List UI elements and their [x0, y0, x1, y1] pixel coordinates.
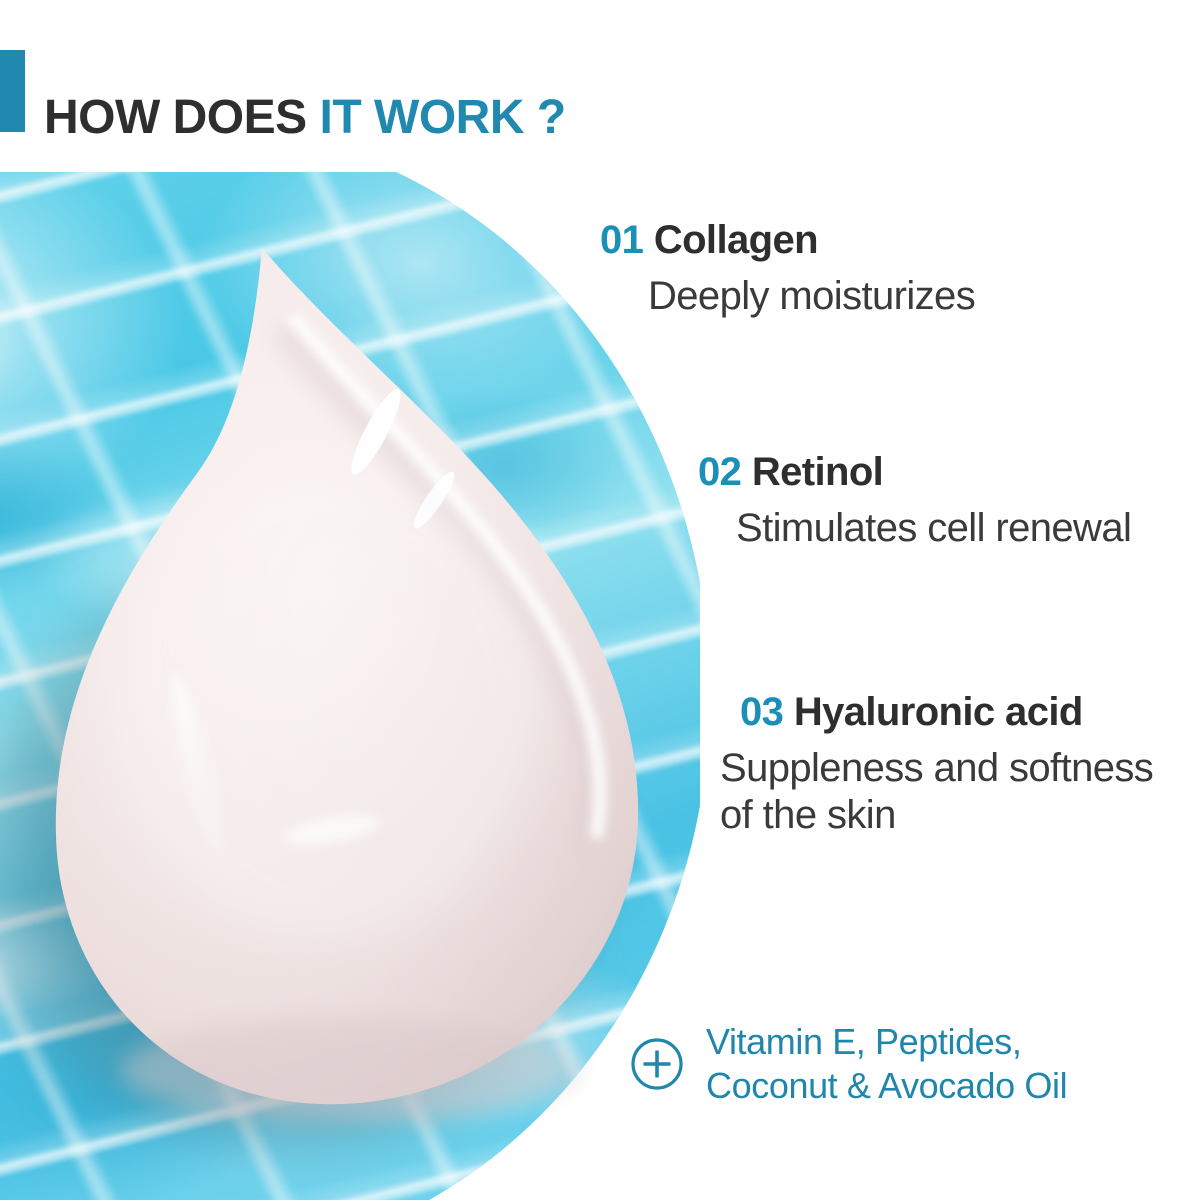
ingredient-item-collagen: 01 Collagen Deeply moisturizes [600, 218, 1140, 320]
additional-ingredients-text: Vitamin E, Peptides, Coconut & Avocado O… [706, 1020, 1067, 1108]
title-accent-bar [0, 50, 25, 132]
page-title-accent: IT WORK ? [320, 91, 566, 144]
ingredient-name: Collagen [654, 218, 818, 262]
ingredient-item-hyaluronic-acid: 03 Hyaluronic acid Suppleness and softne… [740, 690, 1180, 839]
page-header: HOW DOES IT WORK ? [0, 0, 1200, 172]
ingredient-number: 01 [600, 218, 643, 262]
ingredient-description: Stimulates cell renewal [736, 505, 1158, 552]
ingredient-heading: 01 Collagen [600, 218, 1140, 263]
ingredient-name: Retinol [752, 450, 883, 494]
plus-circle-icon [630, 1037, 684, 1091]
ingredient-number: 03 [740, 690, 783, 734]
ingredient-heading: 02 Retinol [698, 450, 1158, 495]
ingredient-heading: 03 Hyaluronic acid [740, 690, 1180, 735]
ingredient-description: Suppleness and softness of the skin [720, 745, 1190, 839]
cream-bottom-shade [120, 1018, 580, 1122]
ingredients-list: 01 Collagen Deeply moisturizes 02 Retino… [580, 200, 1200, 1200]
page-title: HOW DOES IT WORK ? [44, 90, 566, 145]
page-title-plain: HOW DOES [44, 91, 320, 144]
ingredient-name: Hyaluronic acid [794, 690, 1083, 734]
ingredient-number: 02 [698, 450, 741, 494]
cream-diffuse-sheen [120, 462, 540, 942]
cream-swirl-graphic [30, 232, 670, 1152]
ingredient-description: Deeply moisturizes [648, 273, 1140, 320]
additional-ingredients: Vitamin E, Peptides, Coconut & Avocado O… [630, 1020, 1190, 1108]
ingredient-item-retinol: 02 Retinol Stimulates cell renewal [698, 450, 1158, 552]
